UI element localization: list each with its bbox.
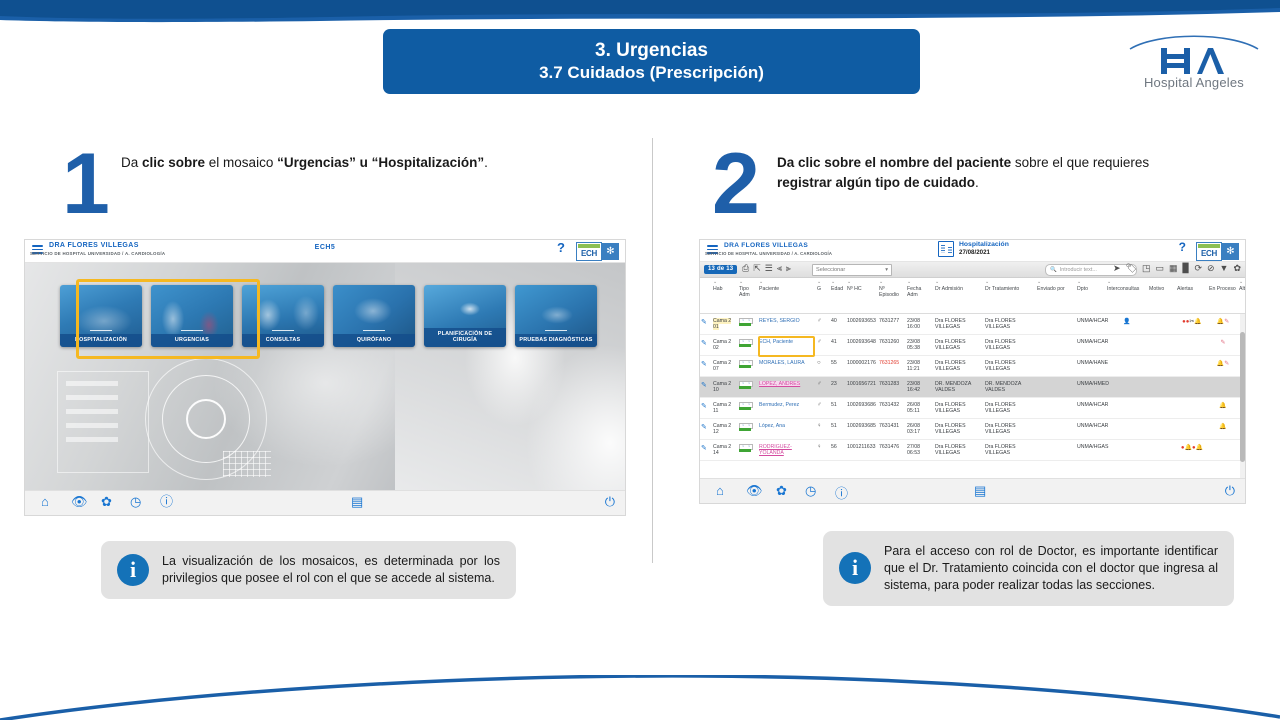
bed-status-icon: ⌁⌁	[739, 402, 751, 410]
cell-enviado-por	[1036, 419, 1076, 440]
home-icon[interactable]: ⌂	[41, 495, 49, 508]
cell-episodio: 7631265	[878, 356, 906, 377]
patient-name-link[interactable]: REYES, SERGIO	[759, 318, 800, 324]
bell-icon[interactable]: 🔔	[1219, 424, 1226, 430]
step1-suffix: .	[484, 155, 488, 170]
highlight-box-tiles	[76, 279, 260, 359]
tile-pruebas-diagnosticas[interactable]: PRUEBAS DIAGNÓSTICAS	[515, 285, 597, 347]
cell-enviado-por	[1036, 314, 1076, 335]
clock-icon[interactable]: ◷	[130, 495, 141, 508]
patient-name-link[interactable]: LOPEZ, ANDRES	[759, 381, 800, 387]
cell-hab-value: Cama 2 12	[713, 423, 731, 435]
info-icon[interactable]: ⓘ	[835, 483, 848, 502]
cell-edad: 55	[830, 356, 846, 377]
cell-episodio-value: 7631431	[879, 423, 899, 429]
module-title: Hospitalización	[959, 241, 1009, 249]
col-tipo-adm[interactable]: ⌄Tipo Adm	[738, 278, 758, 300]
cell-interconsultas	[1106, 398, 1148, 419]
right-app-header: DRA FLORES VILLEGAS SERVICIO DE HOSPITAL…	[700, 240, 1245, 262]
cell-paciente[interactable]: Bermudez, Perez	[758, 398, 816, 419]
tile-separator	[363, 330, 385, 331]
table-row[interactable]: ✎Cama 2 11⌁⌁Bermudez, Perez♂511002693686…	[700, 398, 1245, 419]
info-callout-right-text: Para el acceso con rol de Doctor, es imp…	[884, 543, 1218, 594]
filter-icon[interactable]: ⌄	[935, 279, 939, 285]
block-icon[interactable]: ⊘	[1207, 264, 1215, 273]
cell-edad: 23	[830, 377, 846, 398]
row-edit-cell[interactable]: ✎	[700, 398, 712, 419]
cell-hc: 1002693648	[846, 335, 878, 356]
book-icon[interactable]: ▉	[1183, 264, 1190, 273]
col-edad-label: Edad	[831, 286, 843, 292]
cell-tipo-adm: ⌁⌁	[738, 377, 758, 398]
search-icon: 🔍	[1050, 267, 1057, 273]
cell-hab: Cama 2 01	[712, 314, 738, 335]
clock-icon[interactable]: ◷	[805, 483, 816, 499]
step1-bold1: clic sobre	[142, 155, 205, 170]
cell-tipo-adm: ⌁⌁	[738, 335, 758, 356]
cell-hc: 1002693686	[846, 398, 878, 419]
hospital-building-icon	[938, 241, 954, 257]
table-row[interactable]: ✎Cama 2 14⌁⌁RODRIGUEZ-YOLANDA♀5610012116…	[700, 440, 1245, 461]
col-alertas-label: Alertas	[1177, 286, 1193, 292]
page-title-line1: 3. Urgencias	[595, 39, 708, 63]
filter-icon[interactable]: ⌄	[985, 279, 989, 285]
toolbar-right-icons: ➤ 🏷 ◳ ▭ ▦ ▉ ⟳ ⊘ ▼ ✿	[1113, 264, 1241, 273]
table-scrollbar-thumb[interactable]	[1240, 332, 1245, 462]
cell-enviado-por	[1036, 440, 1076, 461]
col-alta-planif-label: Alta Planif.	[1239, 286, 1245, 292]
highlight-box-patient-name	[758, 336, 815, 357]
cell-enviado-por	[1036, 377, 1076, 398]
right-user-service: SERVICIO DE HOSPITAL UNIVERSIDAD / A. CA…	[705, 251, 832, 256]
cell-hab: Cama 2 14	[712, 440, 738, 461]
col-motivo[interactable]: Motivo	[1148, 278, 1176, 300]
cell-episodio-value: 7631476	[879, 444, 899, 450]
row-edit-cell[interactable]: ✎	[700, 335, 712, 356]
cell-hc: 1000002176	[846, 356, 878, 377]
screenshot-hospitalizacion-list: DRA FLORES VILLEGAS SERVICIO DE HOSPITAL…	[700, 240, 1245, 503]
edit-pencil-icon[interactable]: ✎	[701, 445, 707, 452]
left-brand-badge: ECH ✻	[576, 242, 619, 261]
bell-alert-icon[interactable]: 🔔	[1196, 445, 1203, 451]
table-header-row: ⌄Hab ⌄Tipo Adm ⌄Paciente ⌄G ⌄Edad ⌄Nº HC…	[700, 278, 1245, 300]
patient-name-link[interactable]: RODRIGUEZ-YOLANDA	[759, 444, 792, 456]
col-dr-admision-label: Dr Admisión	[935, 286, 963, 292]
cell-alertas	[1176, 419, 1208, 440]
cell-hab-value: Cama 2 01	[713, 318, 731, 330]
cell-fecha-adm: 23/08 05:38	[906, 335, 934, 356]
col-hc-label: Nº HC	[847, 286, 862, 292]
col-dr-tratamiento-label: Dr Tratamiento	[985, 286, 1019, 292]
bell-alert-icon[interactable]: 🔔	[1194, 319, 1201, 325]
cell-dpto: UNMA/HCAR	[1076, 335, 1106, 356]
top-decorative-band	[0, 0, 1280, 24]
cell-paciente[interactable]: López, Ana	[758, 419, 816, 440]
cell-tipo-adm: ⌁⌁	[738, 398, 758, 419]
cell-genero: ♂	[816, 377, 830, 398]
col-dr-tratamiento[interactable]: ⌄Dr Tratamiento	[984, 278, 1036, 300]
bell-alert-icon[interactable]: 🔔	[1185, 445, 1192, 451]
list-view-icon[interactable]: ☰	[765, 264, 773, 273]
table-row[interactable]: ✎Cama 2 12⌁⌁López, Ana♀51100269368576314…	[700, 419, 1245, 440]
cell-en-proceso: 🔔✎	[1208, 356, 1238, 377]
step1-mid: el mosaico	[205, 155, 277, 170]
cell-en-proceso	[1208, 377, 1238, 398]
tile-planificacion-cirugia[interactable]: PLANIFICACIÓN DE CIRUGÍA	[424, 285, 506, 347]
cell-genero: ♂	[816, 314, 830, 335]
cell-dpto: UNMA/HCAR	[1076, 419, 1106, 440]
archive-icon[interactable]: ▤	[974, 483, 986, 499]
step2-mid: sobre el que requieres	[1011, 155, 1149, 170]
step2-suffix: .	[975, 175, 979, 190]
patient-name-link[interactable]: MORALES, LAURA	[759, 360, 805, 366]
cell-dr-admision: Dra FLORES VILLEGAS	[934, 440, 984, 461]
ech-logo-icon: ECH	[576, 242, 602, 261]
table-row[interactable]: ✎Cama 2 10⌁⌁LOPEZ, ANDRES♂23100165672176…	[700, 377, 1245, 398]
cell-interconsultas: 👤	[1106, 314, 1148, 335]
gender-icon: ♂	[817, 318, 822, 324]
cell-episodio-value: 7631260	[879, 339, 899, 345]
screenshot-home-tiles: DRA FLORES VILLEGAS SERVICIO DE HOSPITAL…	[25, 240, 625, 515]
col-edit	[700, 278, 712, 300]
cell-enviado-por	[1036, 398, 1076, 419]
collapse-left-icon[interactable]: ⫷	[777, 264, 782, 273]
cell-genero: ♂	[816, 335, 830, 356]
bed-status-icon: ⌁⌁	[739, 423, 751, 431]
cell-paciente[interactable]: REYES, SERGIO	[758, 314, 816, 335]
cell-tipo-adm: ⌁⌁	[738, 356, 758, 377]
filter-icon[interactable]: ▼	[1220, 264, 1229, 273]
cell-genero: ♂	[816, 398, 830, 419]
info-icon: i	[839, 552, 871, 584]
col-g-label: G	[817, 286, 821, 292]
step-text-1: Da clic sobre el mosaico “Urgencias” u “…	[121, 153, 601, 173]
col-interconsultas[interactable]: ⌄Interconsultas	[1106, 278, 1148, 300]
cell-interconsultas	[1106, 356, 1148, 377]
cell-hc: 1001211633	[846, 440, 878, 461]
archive-icon[interactable]: ▤	[351, 495, 363, 508]
cell-episodio: 7631432	[878, 398, 906, 419]
cell-edad: 51	[830, 419, 846, 440]
cell-en-proceso: 🔔✎	[1208, 314, 1238, 335]
step-number-1: 1	[62, 141, 110, 227]
cell-dpto: UNMA/HCAR	[1076, 398, 1106, 419]
bottom-decorative-curve	[0, 675, 1280, 720]
power-icon[interactable]: ⏻	[1225, 483, 1235, 499]
cell-interconsultas	[1106, 377, 1148, 398]
cell-paciente[interactable]: MORALES, LAURA	[758, 356, 816, 377]
cell-dpto: UNMA/HCAR	[1076, 314, 1106, 335]
info-icon[interactable]: ⓘ	[160, 495, 173, 508]
step1-prefix: Da	[121, 155, 142, 170]
col-enviado-por-label: Enviado por	[1037, 286, 1065, 292]
cell-hab-value: Cama 2 02	[713, 339, 731, 351]
page-title: 3. Urgencias 3.7 Cuidados (Prescripción)	[383, 29, 920, 94]
cell-dr-admision: Dra FLORES VILLEGAS	[934, 419, 984, 440]
binoculars-icon[interactable]: 👁	[71, 495, 88, 508]
gear-icon[interactable]: ✿	[776, 483, 787, 499]
home-icon[interactable]: ⌂	[716, 483, 724, 498]
cell-dr-tratamiento: Dra FLORES VILLEGAS	[984, 440, 1036, 461]
select-dropdown[interactable]: Seleccionar ▾	[812, 264, 892, 276]
refresh-icon[interactable]: ⟳	[1194, 264, 1202, 273]
bed-status-icon: ⌁⌁	[739, 381, 751, 389]
cell-alertas	[1176, 335, 1208, 356]
cell-hab: Cama 2 12	[712, 419, 738, 440]
cell-edad: 40	[830, 314, 846, 335]
cell-tipo-adm: ⌁⌁	[738, 440, 758, 461]
cell-en-proceso: 🔔	[1208, 419, 1238, 440]
patient-name-link[interactable]: López, Ana	[759, 423, 785, 429]
search-placeholder: Introducir text...	[1060, 267, 1097, 273]
window-icon[interactable]: ▭	[1155, 264, 1164, 273]
col-paciente[interactable]: ⌄Paciente	[758, 278, 816, 300]
cell-motivo	[1148, 440, 1176, 461]
cell-fecha-adm: 27/08 06:53	[906, 440, 934, 461]
col-hab[interactable]: ⌄Hab	[712, 278, 738, 300]
step1-bold2: “Urgencias” u “Hospitalización”	[277, 155, 484, 170]
label-icon[interactable]: ◳	[1142, 264, 1151, 273]
cell-episodio-value: 7631432	[879, 402, 899, 408]
cell-paciente[interactable]: RODRIGUEZ-YOLANDA	[758, 440, 816, 461]
gender-icon: ♂	[817, 402, 822, 408]
print-icon[interactable]: ⎙	[742, 264, 749, 273]
page-title-line2: 3.7 Cuidados (Prescripción)	[539, 62, 764, 84]
gender-icon: ♀	[817, 444, 822, 450]
cell-motivo	[1148, 377, 1176, 398]
filter-icon[interactable]: ⌄	[847, 279, 851, 285]
cell-fecha-adm: 23/08 16:00	[906, 314, 934, 335]
cell-dr-tratamiento: Dra FLORES VILLEGAS	[984, 314, 1036, 335]
cell-edad: 56	[830, 440, 846, 461]
filter-icon[interactable]: ⌄	[817, 279, 821, 285]
info-callout-left: i La visualización de los mosaicos, es d…	[101, 541, 516, 599]
patient-name-link[interactable]: Bermudez, Perez	[759, 402, 799, 408]
export-icon[interactable]: ⇱	[753, 264, 761, 273]
gender-icon: ○	[817, 360, 821, 366]
edit-pencil-icon[interactable]: ✎	[701, 340, 707, 347]
info-callout-right: i Para el acceso con rol de Doctor, es i…	[823, 531, 1234, 606]
tile-label: PLANIFICACIÓN DE CIRUGÍA	[424, 328, 506, 348]
cell-edad: 51	[830, 398, 846, 419]
row-edit-cell[interactable]: ✎	[700, 377, 712, 398]
module-indicator: Hospitalización 27/08/2021	[938, 241, 1009, 257]
left-bottom-toolbar: ⌂ 👁 ✿ ◷ ⓘ ▤ ⏻	[25, 490, 625, 515]
cell-dr-tratamiento: Dra FLORES VILLEGAS	[984, 335, 1036, 356]
cell-episodio-value: 7631265	[879, 360, 899, 366]
tag-icon[interactable]: 🏷	[1126, 264, 1137, 273]
help-icon[interactable]: ?	[1179, 240, 1186, 254]
binoculars-icon[interactable]: 👁	[746, 483, 763, 499]
grid-icon[interactable]: ▦	[1169, 264, 1178, 273]
gear-icon[interactable]: ✿	[101, 495, 112, 508]
bell-icon[interactable]: 🔔	[1219, 403, 1226, 409]
col-enviado-por[interactable]: ⌄Enviado por	[1036, 278, 1076, 300]
logo-wordmark: Hospital Angeles	[1128, 75, 1260, 90]
info-icon: i	[117, 554, 149, 586]
table-row[interactable]: ✎Cama 2 01⌁⌁REYES, SERGIO♂40100269365376…	[700, 314, 1245, 335]
cell-episodio: 7631260	[878, 335, 906, 356]
col-dpto[interactable]: ⌄Dpto	[1076, 278, 1106, 300]
cell-tipo-adm: ⌁⌁	[738, 314, 758, 335]
tile-label: QUIRÓFANO	[333, 334, 415, 347]
col-paciente-label: Paciente	[759, 286, 779, 292]
patient-table-header: ⌄Hab ⌄Tipo Adm ⌄Paciente ⌄G ⌄Edad ⌄Nº HC…	[700, 278, 1245, 300]
person-icon[interactable]: 👤	[1123, 319, 1130, 325]
cell-motivo	[1148, 356, 1176, 377]
toolbar-left-icons: ⎙ ⇱ ☰ ⫷ ⫸	[742, 264, 791, 273]
cell-alertas	[1176, 377, 1208, 398]
tile-label: PRUEBAS DIAGNÓSTICAS	[515, 334, 597, 347]
filter-icon[interactable]: ⌄	[1239, 279, 1243, 285]
settings-gear-icon[interactable]: ✿	[1233, 264, 1241, 273]
cell-hab-value: Cama 2 10	[713, 381, 731, 393]
logo-ha-mark-icon	[1161, 46, 1227, 76]
edit-pencil-icon[interactable]: ✎	[701, 403, 707, 410]
bed-status-icon: ⌁⌁	[739, 444, 751, 452]
pencil-icon[interactable]: ✎	[1224, 319, 1229, 325]
filter-icon[interactable]: ⌄	[1107, 279, 1111, 285]
col-alertas[interactable]: Alertas	[1176, 278, 1208, 300]
tile-quirofano[interactable]: QUIRÓFANO	[333, 285, 415, 347]
cell-alertas: ●🔔●🔔	[1176, 440, 1208, 461]
cell-dr-tratamiento: Dra FLORES VILLEGAS	[984, 356, 1036, 377]
cell-episodio: 7631277	[878, 314, 906, 335]
col-fecha-adm-label: Fecha Adm	[907, 286, 921, 298]
filter-icon[interactable]: ⌄	[759, 279, 763, 285]
background-panel	[57, 371, 149, 473]
cell-dr-admision: DR. MENDOZA VALDES	[934, 377, 984, 398]
cell-tipo-adm: ⌁⌁	[738, 419, 758, 440]
filter-icon[interactable]: ⌄	[739, 279, 743, 285]
cell-en-proceso	[1208, 440, 1238, 461]
cell-dr-admision: Dra FLORES VILLEGAS	[934, 356, 984, 377]
table-header: ⌄Hab ⌄Tipo Adm ⌄Paciente ⌄G ⌄Edad ⌄Nº HC…	[700, 278, 1245, 314]
cell-hab-value: Cama 2 11	[713, 402, 731, 414]
select-dropdown-label: Seleccionar	[816, 267, 845, 273]
cell-genero: ♀	[816, 419, 830, 440]
filter-icon[interactable]: ⌄	[879, 279, 883, 285]
edit-pencil-icon[interactable]: ✎	[701, 319, 707, 326]
filter-icon[interactable]: ⌄	[831, 279, 835, 285]
cell-alertas	[1176, 356, 1208, 377]
filter-icon[interactable]: ⌄	[907, 279, 911, 285]
col-episodio-label: Nº Episodio	[879, 286, 899, 298]
snowflake-icon: ✻	[602, 243, 619, 260]
cell-episodio: 7631431	[878, 419, 906, 440]
cell-hc: 1002693653	[846, 314, 878, 335]
cell-enviado-por	[1036, 356, 1076, 377]
cell-dr-admision: Dra FLORES VILLEGAS	[934, 314, 984, 335]
background-grid	[223, 451, 271, 477]
power-icon[interactable]: ⏻	[605, 495, 615, 508]
col-alta-planif[interactable]: ⌄Alta Planif.	[1238, 278, 1245, 300]
row-edit-cell[interactable]: ✎	[700, 440, 712, 461]
cell-fecha-adm: 23/08 11:21	[906, 356, 934, 377]
cell-dr-tratamiento: Dra FLORES VILLEGAS	[984, 419, 1036, 440]
cell-enviado-por	[1036, 335, 1076, 356]
cell-en-proceso: 🔔	[1208, 398, 1238, 419]
info-callout-left-text: La visualización de los mosaicos, es det…	[162, 553, 500, 587]
step-text-2: Da clic sobre el nombre del paciente sob…	[777, 153, 1202, 192]
record-count-badge: 13 de 13	[704, 265, 737, 274]
cell-episodio: 7631283	[878, 377, 906, 398]
cell-motivo	[1148, 335, 1176, 356]
left-app-header: DRA FLORES VILLEGAS SERVICIO DE HOSPITAL…	[25, 240, 625, 263]
cell-episodio-value: 7631283	[879, 381, 899, 387]
cell-interconsultas	[1106, 419, 1148, 440]
row-edit-cell[interactable]: ✎	[700, 419, 712, 440]
right-toolbar: 13 de 13 ⎙ ⇱ ☰ ⫷ ⫸ Seleccionar ▾ 🔍 Intro…	[700, 262, 1245, 278]
cell-hab-value: Cama 2 14	[713, 444, 731, 456]
cell-hab: Cama 2 10	[712, 377, 738, 398]
table-scrollbar[interactable]	[1240, 314, 1245, 492]
left-hero-background: HOSPITALIZACIÓN URGENCIAS CONSULTAS QUIR…	[25, 263, 625, 492]
hospital-angeles-logo: Hospital Angeles	[1128, 28, 1260, 90]
cell-alertas	[1176, 398, 1208, 419]
right-bottom-toolbar: ⌂ 👁 ✿ ◷ ⓘ ▤ ⏻	[700, 478, 1245, 503]
gender-icon: ♂	[817, 339, 822, 345]
cell-hab: Cama 2 11	[712, 398, 738, 419]
cell-dr-admision: Dra FLORES VILLEGAS	[934, 398, 984, 419]
col-edad[interactable]: ⌄Edad	[830, 278, 846, 300]
cell-motivo	[1148, 398, 1176, 419]
cell-genero: ♀	[816, 440, 830, 461]
cell-hab: Cama 2 02	[712, 335, 738, 356]
cell-fecha-adm: 23/08 16:42	[906, 377, 934, 398]
bed-status-icon: ⌁⌁	[739, 318, 751, 326]
cell-fecha-adm: 26/08 03:17	[906, 419, 934, 440]
col-g[interactable]: ⌄G	[816, 278, 830, 300]
cell-dpto: UNMA/HMED	[1076, 377, 1106, 398]
table-row[interactable]: ✎Cama 2 07⌁⌁MORALES, LAURA○5510000021767…	[700, 356, 1245, 377]
cell-dpto: UNMA/HGAS	[1076, 440, 1106, 461]
gender-icon: ♀	[817, 423, 822, 429]
col-en-proceso[interactable]: En Proceso	[1208, 278, 1238, 300]
cursor-icon[interactable]: ➤	[1113, 264, 1121, 273]
col-interconsultas-label: Interconsultas	[1107, 286, 1139, 292]
cell-paciente[interactable]: LOPEZ, ANDRES	[758, 377, 816, 398]
col-dr-admision[interactable]: ⌄Dr Admisión	[934, 278, 984, 300]
col-motivo-label: Motivo	[1149, 286, 1164, 292]
col-hc[interactable]: ⌄Nº HC	[846, 278, 878, 300]
tile-separator	[545, 330, 567, 331]
ech-logo-icon: ECH	[1196, 242, 1222, 261]
edit-pencil-icon[interactable]: ✎	[701, 382, 707, 389]
edit-pencil-icon[interactable]: ✎	[701, 424, 707, 431]
help-icon[interactable]: ?	[557, 240, 565, 255]
col-hab-label: Hab	[713, 286, 723, 292]
cell-interconsultas	[1106, 440, 1148, 461]
edit-pencil-icon[interactable]: ✎	[701, 361, 707, 368]
cell-dr-admision: Dra FLORES VILLEGAS	[934, 335, 984, 356]
col-fecha-adm[interactable]: ⌄Fecha Adm	[906, 278, 934, 300]
pencil-icon[interactable]: ✎	[1220, 340, 1225, 346]
cell-episodio: 7631476	[878, 440, 906, 461]
filter-icon[interactable]: ⌄	[713, 279, 717, 285]
right-brand-badge: ECH ✻	[1196, 242, 1239, 261]
collapse-right-icon[interactable]: ⫸	[786, 264, 791, 273]
pencil-icon[interactable]: ✎	[1224, 361, 1229, 367]
filter-icon[interactable]: ⌄	[1037, 279, 1041, 285]
filter-icon[interactable]: ⌄	[1077, 279, 1081, 285]
row-edit-cell[interactable]: ✎	[700, 314, 712, 335]
col-episodio[interactable]: ⌄Nº Episodio	[878, 278, 906, 300]
module-date: 27/08/2021	[959, 249, 1009, 257]
chevron-down-icon: ▾	[885, 267, 888, 273]
cell-en-proceso: ✎	[1208, 335, 1238, 356]
row-edit-cell[interactable]: ✎	[700, 356, 712, 377]
